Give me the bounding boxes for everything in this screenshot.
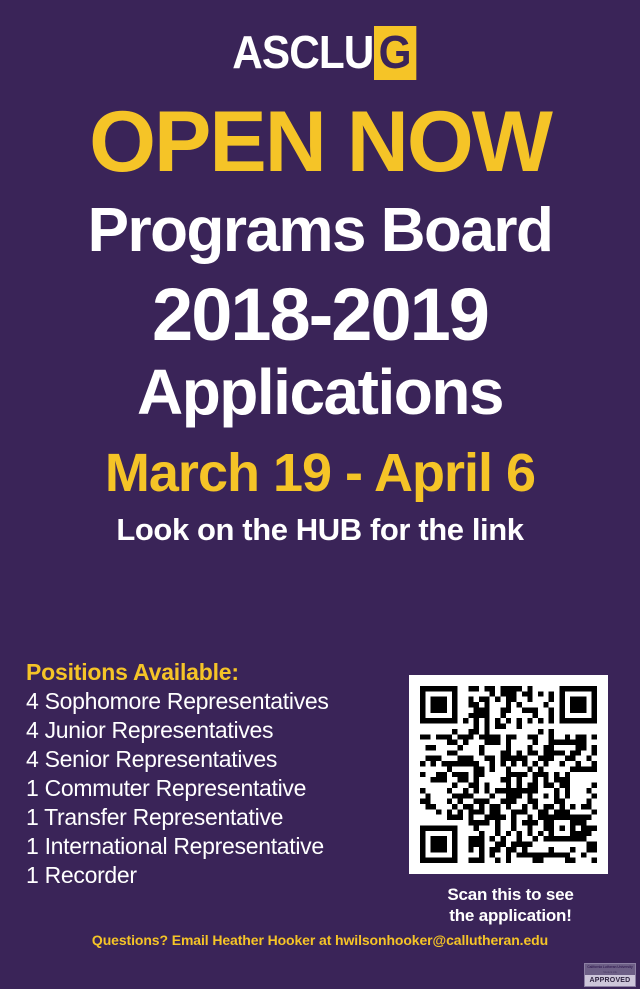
headline-applications: Applications (0, 356, 640, 428)
list-item: 1 Commuter Representative (26, 774, 406, 803)
asclu-logo-text: ASCLU (232, 26, 373, 78)
list-item: 4 Senior Representatives (26, 745, 406, 774)
list-item: 1 International Representative (26, 832, 406, 861)
headline-hub-note: Look on the HUB for the link (0, 510, 640, 550)
list-item: 4 Junior Representatives (26, 716, 406, 745)
list-item: 1 Recorder (26, 861, 406, 890)
positions-list: 4 Sophomore Representatives 4 Junior Rep… (26, 687, 406, 890)
list-item: 4 Sophomore Representatives (26, 687, 406, 716)
qr-section: Scan this to see the application! (409, 675, 612, 926)
headline-stack: OPEN NOW Programs Board 2018-2019 Applic… (0, 96, 640, 550)
stamp-department: Student Life (585, 970, 635, 974)
approval-stamp: California Lutheran University Student L… (584, 963, 636, 987)
headline-open-now: OPEN NOW (0, 96, 640, 188)
list-item: 1 Transfer Representative (26, 803, 406, 832)
qr-code-svg (420, 686, 597, 863)
status-badge: APPROVED (585, 975, 635, 986)
headline-programs-board: Programs Board (0, 194, 640, 268)
asclu-logo-badge: G (374, 26, 416, 80)
headline-years: 2018-2019 (0, 274, 640, 356)
qr-code-icon[interactable] (409, 675, 608, 874)
positions-title: Positions Available: (26, 657, 406, 687)
qr-caption-line1: Scan this to see (409, 884, 612, 905)
poster-canvas: ASCLUG OPEN NOW Programs Board 2018-2019… (0, 0, 640, 989)
headline-date-range: March 19 - April 6 (0, 440, 640, 506)
contact-footer: Questions? Email Heather Hooker at hwils… (0, 931, 640, 949)
asclu-logo: ASCLUG (0, 26, 640, 80)
positions-section: Positions Available: 4 Sophomore Represe… (26, 657, 406, 890)
qr-caption-line2: the application! (409, 905, 612, 926)
qr-caption: Scan this to see the application! (409, 884, 612, 926)
